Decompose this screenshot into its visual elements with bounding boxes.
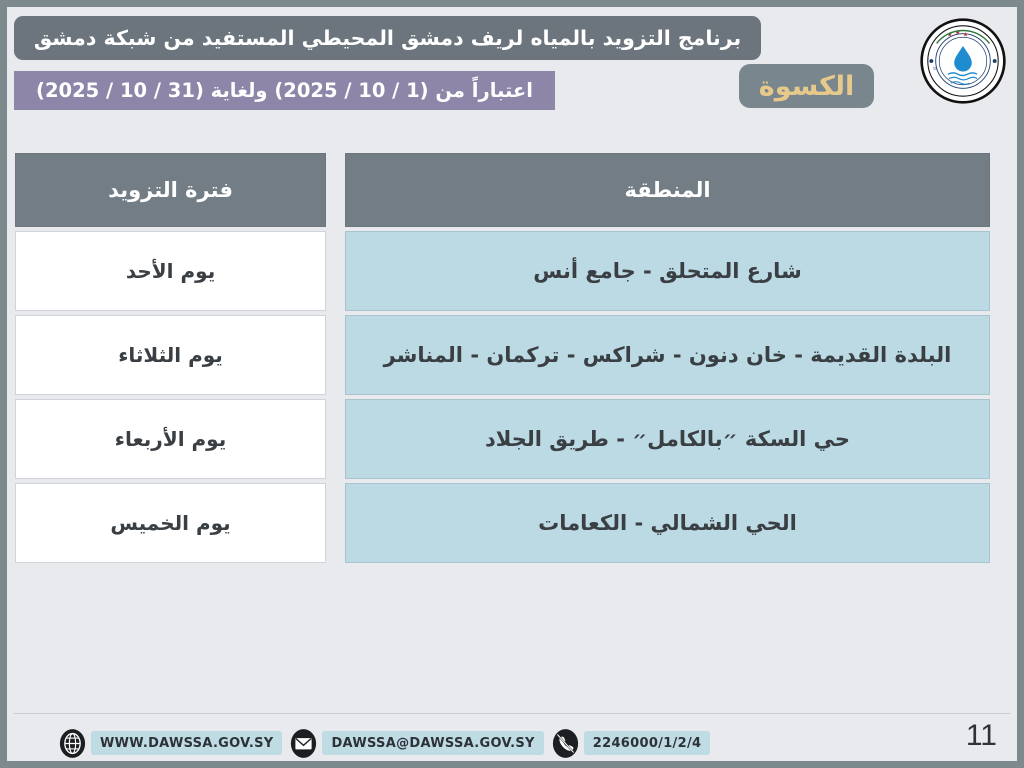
table-row: البلدة القديمة - خان دنون - شراكس - تركم… xyxy=(345,315,990,395)
page-title: برنامج التزويد بالمياه لريف دمشق المحيطي… xyxy=(14,16,761,60)
region-column-header: المنطقة xyxy=(345,153,990,227)
globe-icon xyxy=(59,728,86,759)
website-label: WWW.DAWSSA.GOV.SY xyxy=(91,731,282,755)
phone-label: 2246000/1/2/4 xyxy=(584,731,711,755)
region-column: المنطقة شارع المتحلق - جامع أنس البلدة ا… xyxy=(345,153,990,563)
table-row: يوم الثلاثاء xyxy=(15,315,326,395)
table-row: يوم الأربعاء xyxy=(15,399,326,479)
email-label: DAWSSA@DAWSSA.GOV.SY xyxy=(322,731,543,755)
contact-website[interactable]: WWW.DAWSSA.GOV.SY xyxy=(59,728,282,759)
envelope-icon xyxy=(290,728,317,759)
water-authority-seal-icon: ★ ★ ★ المؤسسة العامة لمياه الشرب والصرف … xyxy=(919,12,1007,110)
phone-icon xyxy=(552,728,579,759)
slide-footer: WWW.DAWSSA.GOV.SY DAWSSA@DAWSSA.GOV.SY xyxy=(7,719,1017,767)
period-column: فترة التزويد يوم الأحد يوم الثلاثاء يوم … xyxy=(15,153,326,563)
page-number: 11 xyxy=(966,719,997,753)
date-range-banner: اعتباراً من (1 / 10 / 2025) ولغاية (31 /… xyxy=(14,71,555,110)
contact-email[interactable]: DAWSSA@DAWSSA.GOV.SY xyxy=(290,728,543,759)
city-badge: الكسوة xyxy=(739,64,874,108)
slide-canvas: ★ ★ ★ المؤسسة العامة لمياه الشرب والصرف … xyxy=(0,0,1024,768)
slide-header: ★ ★ ★ المؤسسة العامة لمياه الشرب والصرف … xyxy=(7,7,1017,119)
table-row: يوم الخميس xyxy=(15,483,326,563)
table-row: شارع المتحلق - جامع أنس xyxy=(345,231,990,311)
period-column-header: فترة التزويد xyxy=(15,153,326,227)
table-row: حي السكة ״بالكامل״ - طريق الجلاد xyxy=(345,399,990,479)
svg-text:★: ★ xyxy=(963,31,969,38)
contact-phone[interactable]: 2246000/1/2/4 xyxy=(552,728,711,759)
table-row: الحي الشمالي - الكعامات xyxy=(345,483,990,563)
schedule-table: المنطقة شارع المتحلق - جامع أنس البلدة ا… xyxy=(14,153,990,563)
table-row: يوم الأحد xyxy=(15,231,326,311)
footer-divider xyxy=(14,713,1010,714)
